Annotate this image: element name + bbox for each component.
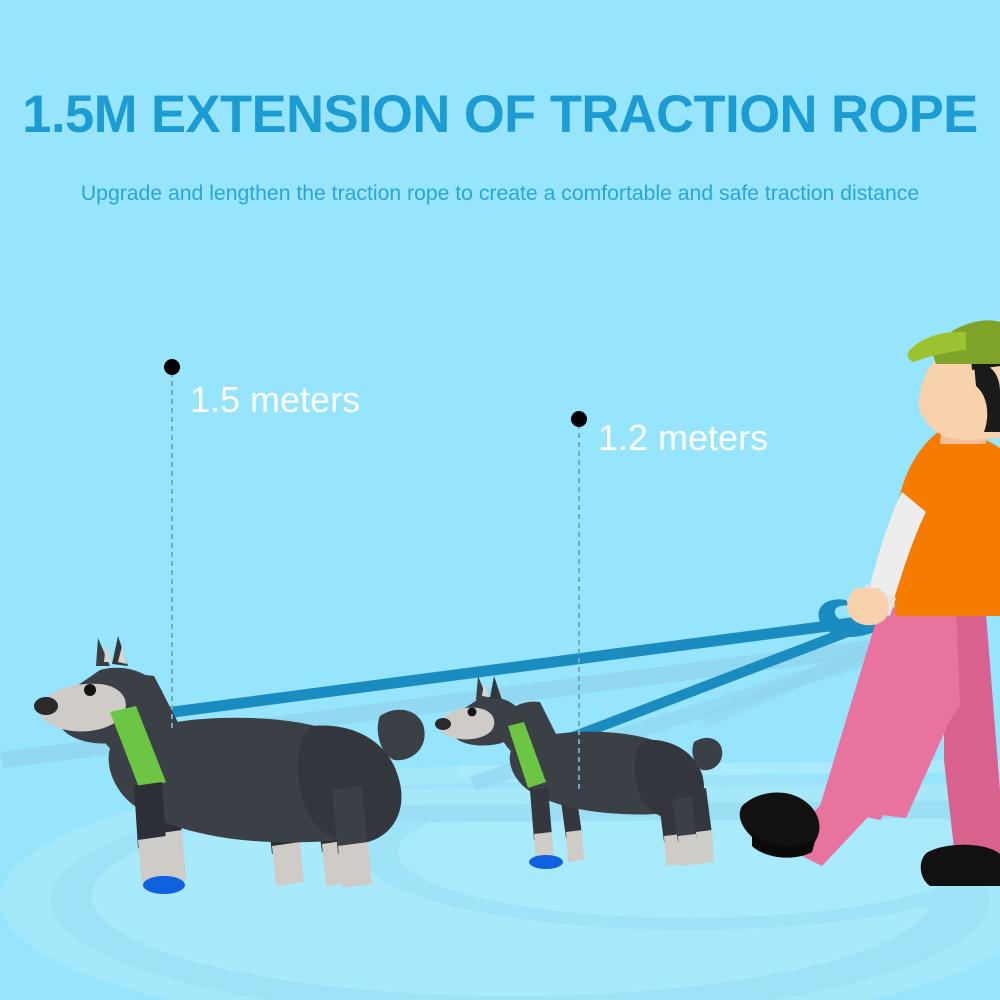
person-hand (847, 588, 889, 625)
guide-dot-2 (571, 411, 587, 427)
small-dog-paw-marker (529, 855, 563, 869)
guide-dot-1 (164, 359, 180, 375)
large-dog-paw-marker (143, 876, 185, 894)
measurement-label-1-5-meters: 1.5 meters (190, 382, 360, 418)
large-dog-nose (34, 697, 58, 715)
small-dog-eye (468, 708, 477, 717)
person-jaw (918, 396, 936, 414)
small-dog-nose (435, 718, 451, 730)
page-title: 1.5M EXTENSION OF TRACTION ROPE (5, 88, 995, 141)
measurement-label-1-2-meters: 1.2 meters (598, 420, 768, 456)
infographic-poster: 1.5M EXTENSION OF TRACTION ROPE Upgrade … (0, 0, 1000, 1000)
page-subtitle: Upgrade and lengthen the traction rope t… (8, 183, 993, 205)
person-back-shoe (921, 845, 1000, 886)
illustration-scene (0, 0, 1000, 1000)
large-dog-eye (84, 684, 96, 696)
